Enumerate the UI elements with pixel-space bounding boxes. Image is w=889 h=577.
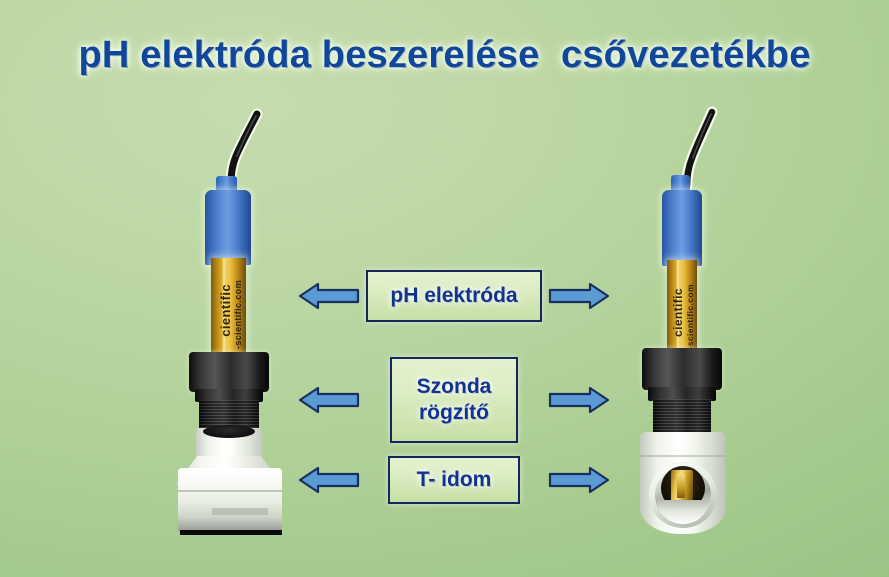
label-box-ph-elektroda[interactable]: pH elektróda [366,270,542,322]
callout-szonda-rogzito: Szonda rögzítő [298,357,610,443]
callout-t-idom: T- idom [298,456,610,504]
arrow-left-icon [298,279,360,313]
label-box-t-idom[interactable]: T- idom [388,456,520,504]
label-text-ph-elektroda: pH elektróda [390,283,517,309]
barrel-brand-text-left: cientific [218,284,233,337]
probe-holder-nut-right [642,348,722,390]
label-text-rogzito: rögzítő [419,400,489,426]
arrow-right-icon [548,279,610,313]
barrel-brand-text-right: cientific [671,288,685,337]
tee-run-stamp-left [212,508,268,515]
arrow-right-icon [548,463,610,497]
electrode-cap-left [205,190,251,265]
arrow-right-icon [548,383,610,417]
tee-base-shadow-left [180,530,282,535]
electrode-cap-right [662,190,702,266]
tee-branch-bore-left [203,425,255,438]
arrow-left-icon [298,463,360,497]
slide-canvas: pH elektróda beszerelése csővezetékbe ci… [0,0,889,577]
label-text-t-idom: T- idom [417,467,492,493]
probe-holder-nut-left [189,352,269,392]
electrode-tip-highlight-right [677,474,685,498]
tee-face-seam-right [640,455,726,457]
label-text-szonda: Szonda [417,374,492,400]
tee-run-seam-left [178,490,282,492]
label-box-szonda-rogzito[interactable]: Szonda rögzítő [390,357,518,443]
tee-run-body-left [178,468,282,524]
barrel-url-text-left: -scientific.com [233,280,243,349]
barrel-url-text-right: -scientific.com [685,284,695,350]
callout-ph-elektroda: pH elektróda [298,268,610,324]
electrode-barrel-right: cientific -scientific.com [667,260,697,355]
electrode-barrel-left: cientific -scientific.com [211,258,246,358]
arrow-left-icon [298,383,360,417]
